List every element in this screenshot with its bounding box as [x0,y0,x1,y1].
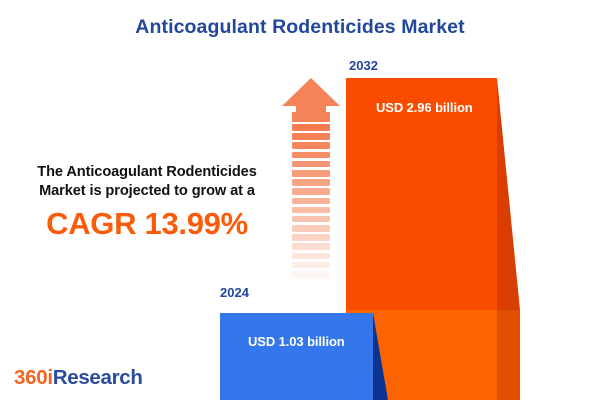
bar-2032-side-lower [497,310,520,400]
brand-logo[interactable]: 360iResearch [14,366,143,390]
bar-2032-side-upper [497,78,520,310]
arrow-stripe [292,188,330,195]
bar-2024-value-label: USD 1.03 billion [248,334,345,349]
bar-2032-value-label: USD 2.96 billion [376,100,473,115]
arrow-stripe [292,170,330,177]
statement-line-2: Market is projected to grow at a [12,182,282,201]
logo-360: 360 [14,366,47,389]
arrow-stripe [292,207,330,214]
arrow-stripe [292,243,330,250]
arrow-stripes [292,124,330,298]
arrow-stripe [292,253,330,260]
bar-2024: USD 1.03 billion [220,313,373,400]
bar-2024-face [220,313,373,400]
arrow-stripe [292,179,330,186]
arrow-stripe [292,124,330,131]
logo-research: Research [53,366,143,389]
arrow-stripe [292,262,330,269]
arrow-stripe [292,133,330,140]
cagr-value: CAGR 13.99% [12,207,282,241]
arrow-stripe [292,216,330,223]
arrow-stripe [292,198,330,205]
page-title: Anticoagulant Rodenticides Market [0,16,600,39]
growth-arrow-icon [281,76,341,298]
arrow-stripe [292,142,330,149]
arrow-stripe [292,225,330,232]
arrow-stripe [292,234,330,241]
arrow-stripe [292,152,330,159]
year-label-2032: 2032 [349,58,378,73]
arrow-stripe [292,161,330,168]
arrow-neck [292,112,330,122]
statement-block: The Anticoagulant Rodenticides Market is… [12,163,282,241]
arrow-head-icon [281,76,341,116]
arrow-stripe [292,271,330,278]
statement-line-1: The Anticoagulant Rodenticides [12,163,282,182]
arrow-stripe [292,280,330,287]
year-label-2024: 2024 [220,285,249,300]
infographic-canvas: Anticoagulant Rodenticides Market The An… [0,0,600,400]
